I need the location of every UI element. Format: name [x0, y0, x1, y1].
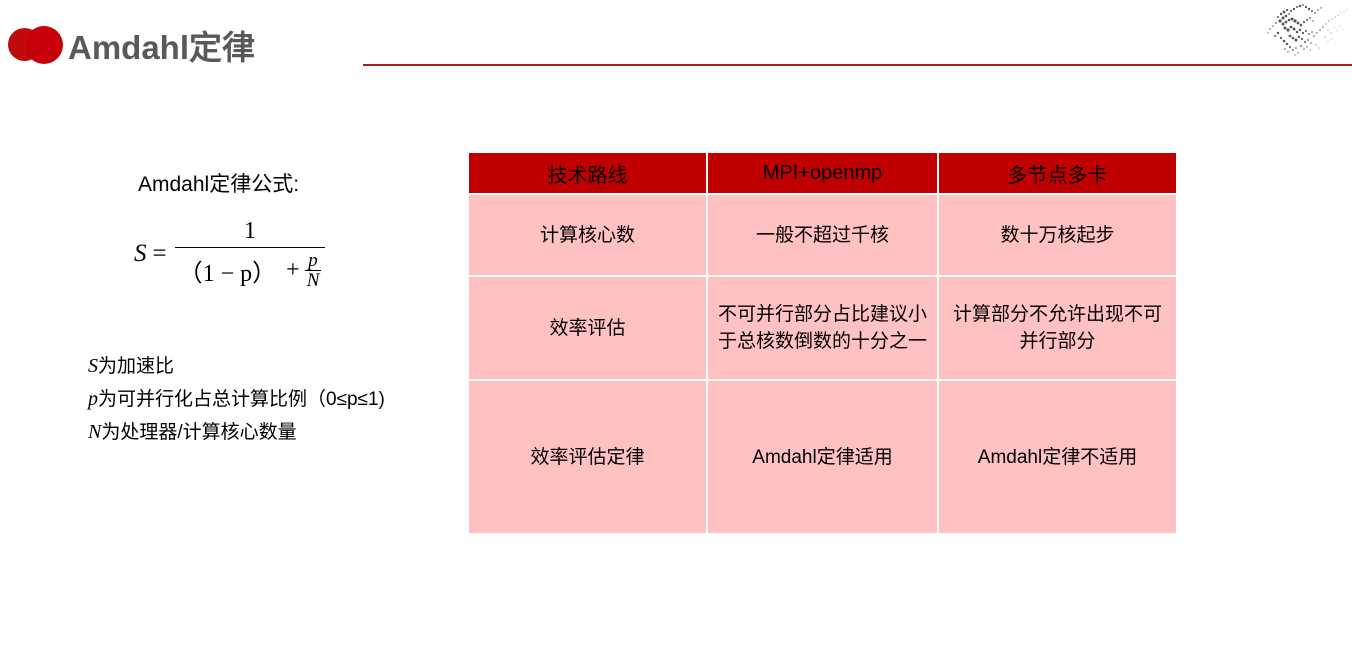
table-header-cell: 多节点多卡: [939, 153, 1176, 195]
table-cell: 计算核心数: [469, 195, 708, 277]
legend-text: 为可并行化占总计算比例（0≤p≤1): [98, 389, 385, 410]
formula-fraction: 1 （1 − p） + p N: [175, 218, 326, 291]
double-circle-icon: [8, 26, 70, 62]
formula-denominator: （1 − p） + p N: [175, 248, 326, 291]
table-cell: Amdahl定律不适用: [939, 381, 1176, 533]
denominator-subfraction: p N: [305, 251, 322, 291]
table-cell: 数十万核起步: [939, 195, 1176, 277]
table-cell: 一般不超过千核: [708, 195, 939, 277]
legend-symbol: S: [88, 355, 98, 377]
table-cell: 计算部分不允许出现不可并行部分: [939, 277, 1176, 381]
table-header-row: 技术路线 MPI+openmp 多节点多卡: [469, 153, 1176, 195]
formula-numerator: 1: [238, 218, 262, 247]
subfraction-denominator: N: [305, 271, 322, 290]
comparison-table: 技术路线 MPI+openmp 多节点多卡 计算核心数 一般不超过千核 数十万核…: [469, 153, 1176, 533]
formula-equals: =: [153, 240, 167, 268]
formula-legend: S为加速比 p为可并行化占总计算比例（0≤p≤1) N为处理器/计算核心数量: [88, 350, 468, 449]
page-title: Amdahl定律: [68, 28, 255, 68]
legend-item: S为加速比: [88, 350, 468, 383]
table-cell: 不可并行部分占比建议小于总核数倒数的十分之一: [708, 277, 939, 381]
table-row: 效率评估 不可并行部分占比建议小于总核数倒数的十分之一 计算部分不允许出现不可并…: [469, 277, 1176, 381]
table-cell: Amdahl定律适用: [708, 381, 939, 533]
formula-lhs: S: [134, 240, 147, 268]
table-header-cell: MPI+openmp: [708, 153, 939, 195]
legend-item: p为可并行化占总计算比例（0≤p≤1): [88, 383, 468, 416]
title-divider: [363, 64, 1352, 66]
table-header-cell: 技术路线: [469, 153, 708, 195]
legend-item: N为处理器/计算核心数量: [88, 416, 468, 449]
legend-symbol: N: [88, 421, 101, 443]
table-row: 效率评估定律 Amdahl定律适用 Amdahl定律不适用: [469, 381, 1176, 533]
running-figure-particle-icon: [1240, 0, 1352, 62]
table-row: 计算核心数 一般不超过千核 数十万核起步: [469, 195, 1176, 277]
legend-text: 为处理器/计算核心数量: [101, 422, 296, 443]
legend-symbol: p: [88, 388, 98, 410]
slide-canvas: Amdahl定律: [0, 0, 1352, 657]
amdahl-formula: S = 1 （1 − p） + p N: [134, 218, 325, 291]
legend-text: 为加速比: [98, 356, 174, 377]
formula-label: Amdahl定律公式:: [138, 168, 299, 198]
subfraction-numerator: p: [306, 251, 320, 270]
table-cell: 效率评估: [469, 277, 708, 381]
denominator-plus: +: [286, 257, 300, 284]
circle-large: [25, 26, 63, 64]
denominator-term: （1 − p）: [179, 253, 277, 288]
table-cell: 效率评估定律: [469, 381, 708, 533]
